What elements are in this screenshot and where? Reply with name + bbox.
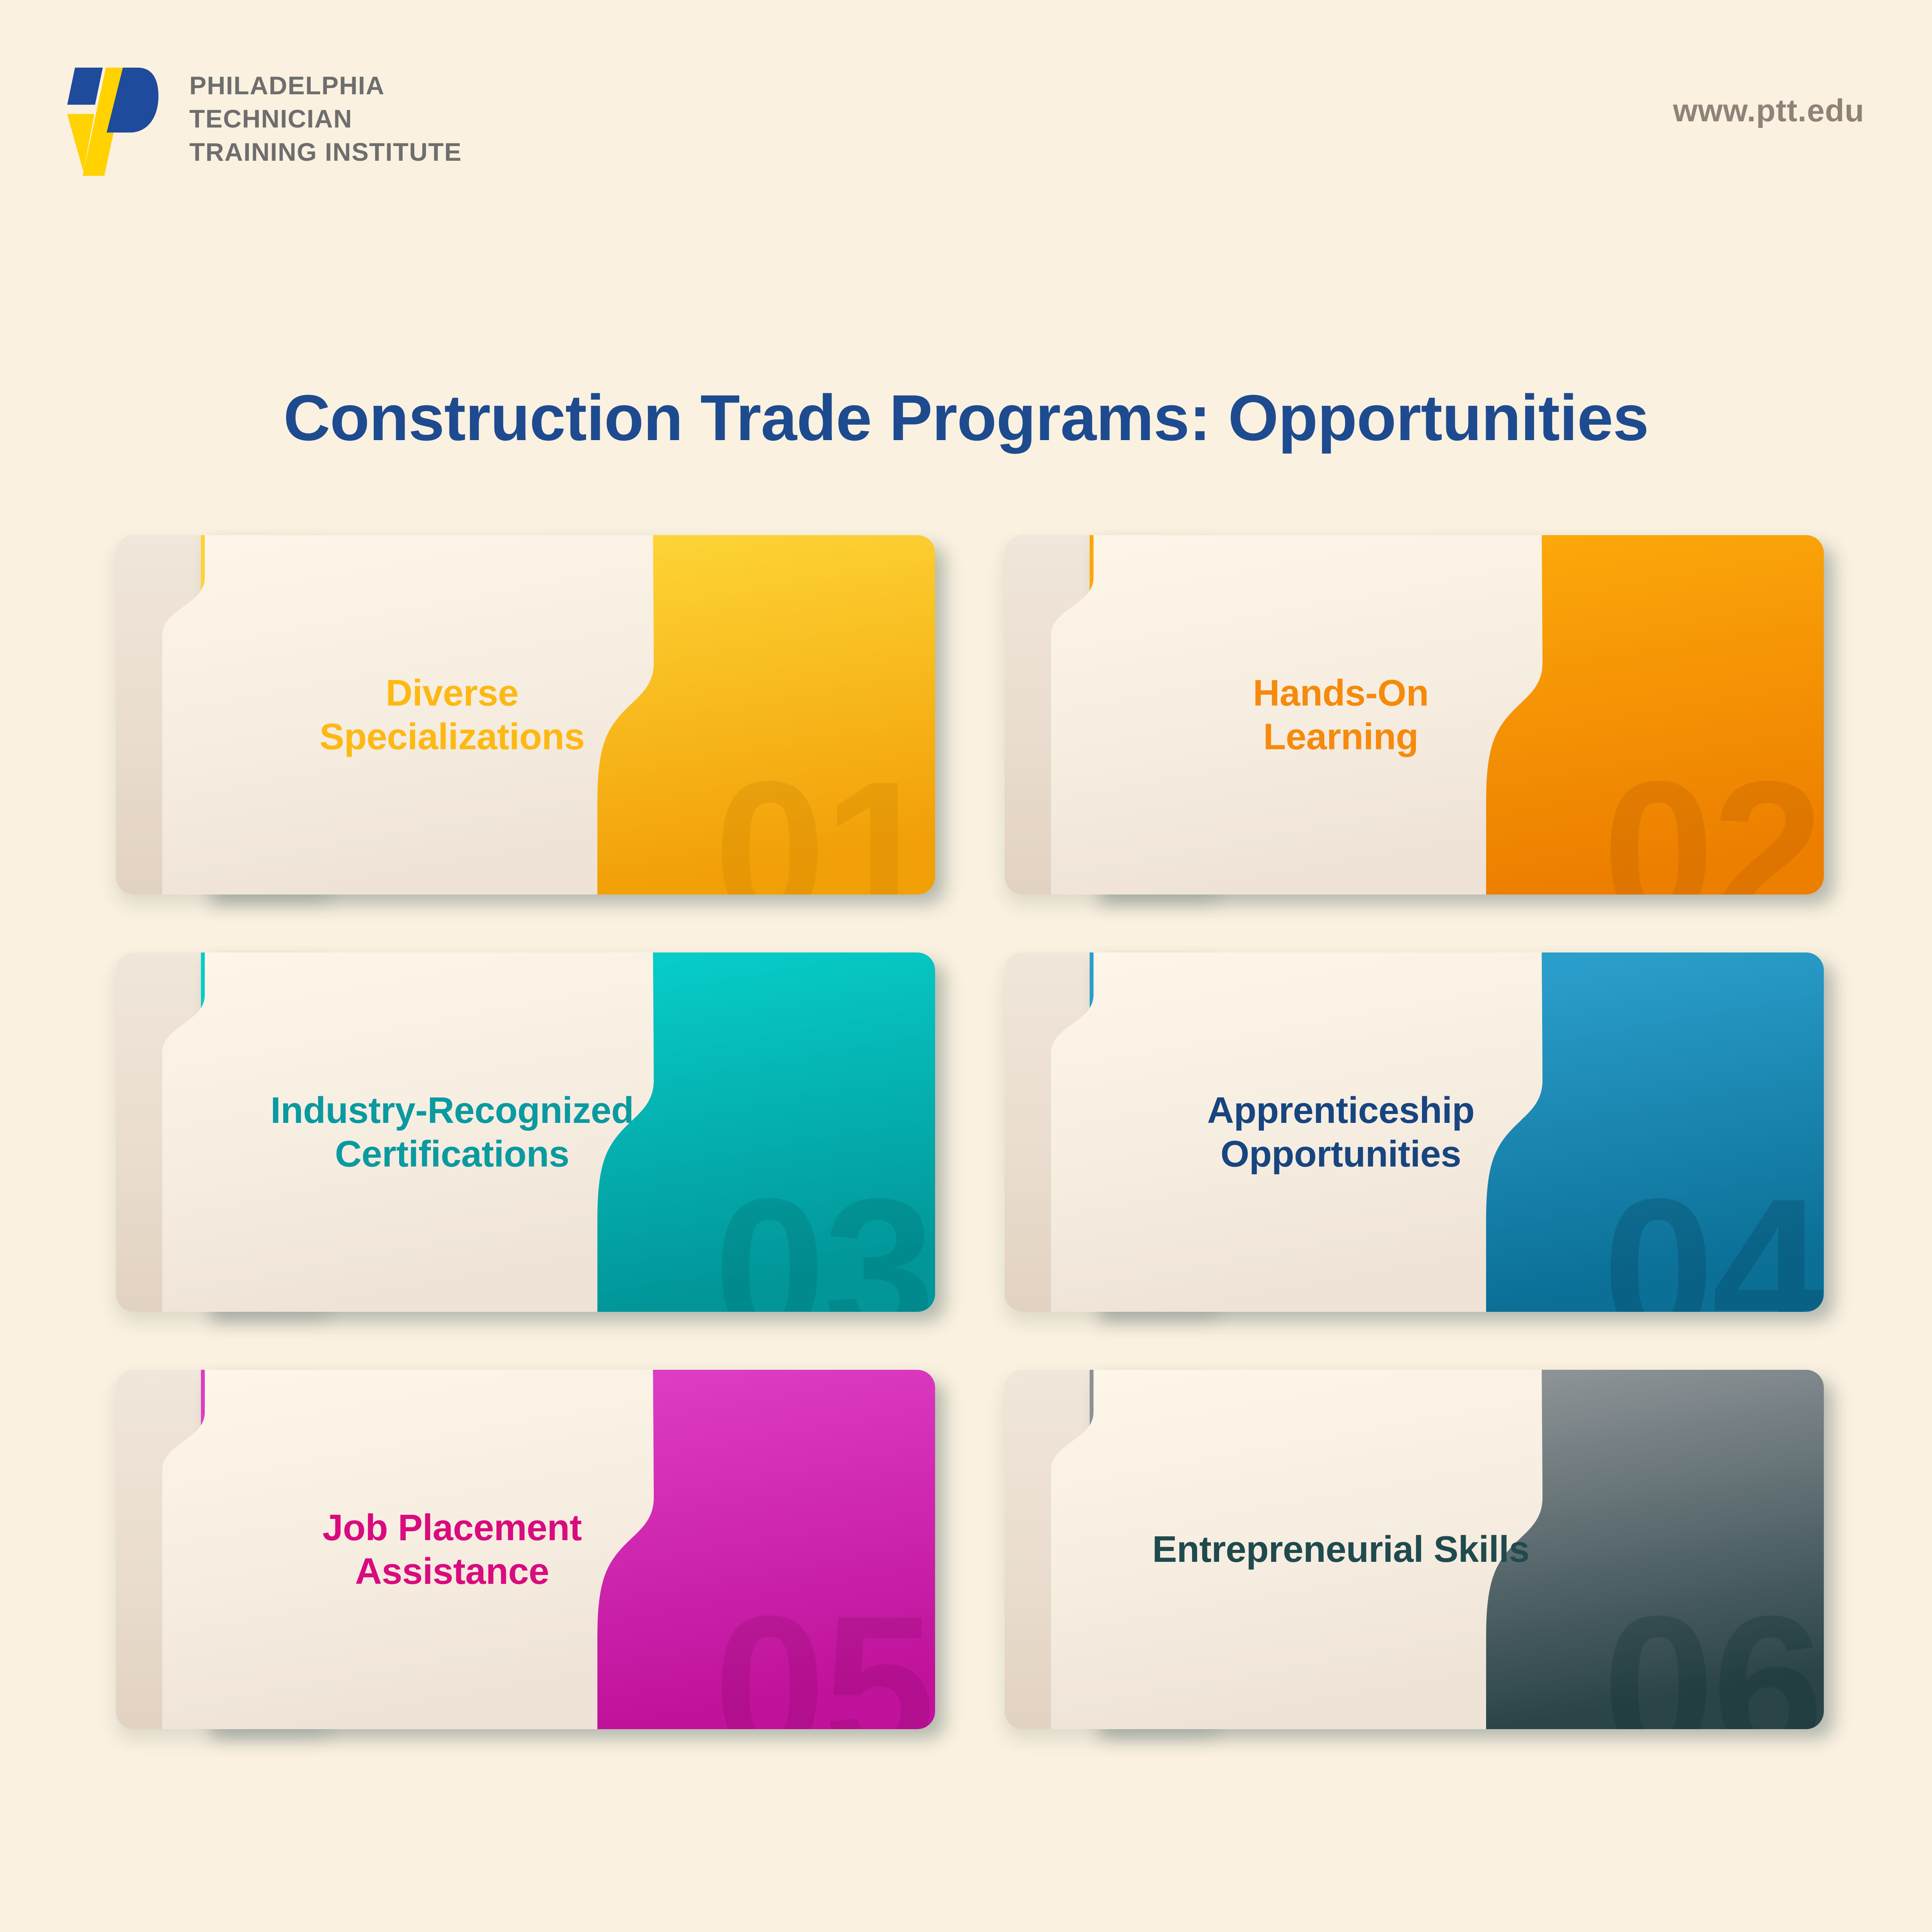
opportunity-card[interactable]: 06 Entrepreneurial Skills xyxy=(1005,1370,1824,1729)
brand-lockup: PHILADELPHIA TECHNICIAN TRAINING INSTITU… xyxy=(66,60,462,187)
page-title-strong: Opportunities xyxy=(1228,381,1648,454)
brand-name: PHILADELPHIA TECHNICIAN TRAINING INSTITU… xyxy=(189,60,462,168)
card-sheet xyxy=(162,952,819,1312)
page-header: PHILADELPHIA TECHNICIAN TRAINING INSTITU… xyxy=(0,0,1932,216)
opportunity-card[interactable]: 04 Apprenticeship Opportunities xyxy=(1005,952,1824,1312)
ptt-logo-icon xyxy=(66,60,158,187)
brand-line-2: TECHNICIAN xyxy=(189,102,462,136)
opportunity-card-grid: 01 Diverse Specializations 02 xyxy=(116,535,1824,1729)
card-sheet xyxy=(162,535,819,895)
opportunity-card[interactable]: 01 Diverse Specializations xyxy=(116,535,935,895)
brand-line-1: PHILADELPHIA xyxy=(189,69,462,102)
card-sheet xyxy=(1051,952,1708,1312)
opportunity-card[interactable]: 05 Job Placement Assistance xyxy=(116,1370,935,1729)
brand-line-3: TRAINING INSTITUTE xyxy=(189,136,462,169)
opportunity-card[interactable]: 02 Hands-On Learning xyxy=(1005,535,1824,895)
card-sheet xyxy=(1051,1370,1708,1729)
page-title: Construction Trade Programs: Opportuniti… xyxy=(0,384,1932,452)
page-title-light: Construction Trade Programs: xyxy=(283,381,1228,454)
opportunity-card[interactable]: 03 Industry-Recognized Certifications xyxy=(116,952,935,1312)
card-sheet xyxy=(1051,535,1708,895)
card-sheet xyxy=(162,1370,819,1729)
website-url[interactable]: www.ptt.edu xyxy=(1673,93,1864,129)
